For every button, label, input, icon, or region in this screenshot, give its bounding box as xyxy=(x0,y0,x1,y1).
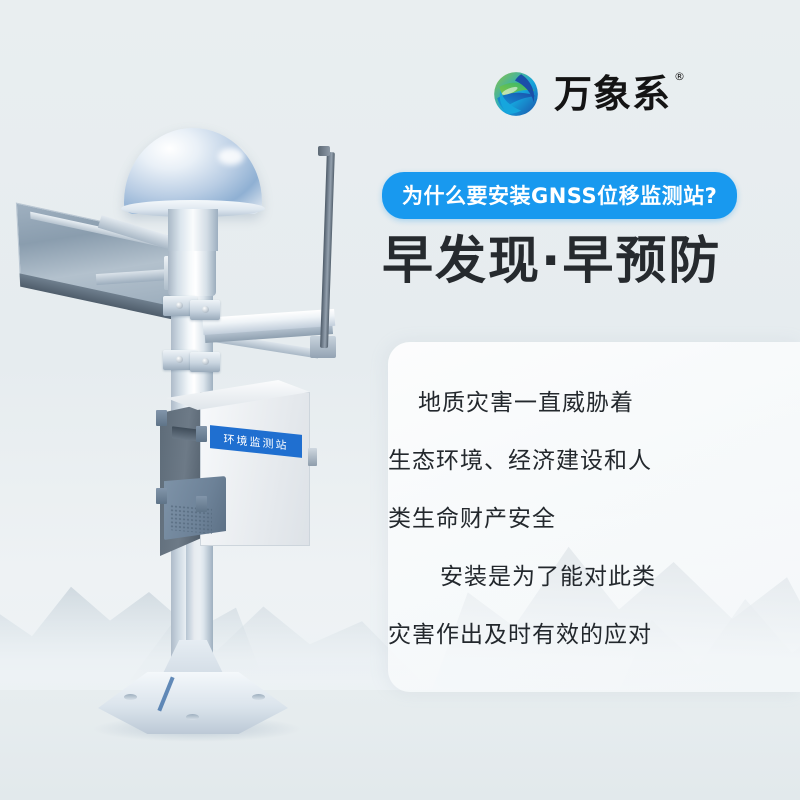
description-line-4: 安装是为了能对此类 xyxy=(388,548,788,606)
description-line-5: 灾害作出及时有效的应对 xyxy=(388,606,788,664)
enclosure-mount-tab xyxy=(156,410,167,426)
question-banner-text: 为什么要安装GNSS位移监测站? xyxy=(402,184,717,208)
gnss-monitoring-station-image: 环境监测站 xyxy=(0,0,400,800)
description-line-2: 生态环境、经济建设和人 xyxy=(388,432,788,490)
clamp-bolt xyxy=(176,356,183,363)
equipment-enclosure: 环境监测站 xyxy=(158,378,326,558)
brand-logo: 万象系 ® xyxy=(490,68,671,120)
base-bolt-hole xyxy=(252,694,265,700)
content-column: 万象系 ® 为什么要安装GNSS位移监测站? 早发现·早预防 地质灾害一直威胁着… xyxy=(380,0,800,800)
enclosure-hinge-tab xyxy=(196,496,207,512)
description-text: 地质灾害一直威胁着 生态环境、经济建设和人 类生命财产安全 安装是为了能对此类 … xyxy=(388,374,788,664)
base-bolt-hole xyxy=(124,694,137,700)
clamp-bolt xyxy=(202,306,209,313)
base-bolt-hole xyxy=(186,714,199,720)
clamp-bolt xyxy=(176,302,183,309)
whip-antenna-cap xyxy=(318,146,330,156)
enclosure-label-text: 环境监测站 xyxy=(224,430,289,453)
enclosure-mount-tab xyxy=(156,488,167,504)
dome-neck xyxy=(168,209,218,251)
brand-name: 万象系 xyxy=(554,72,671,116)
description-line-3: 类生命财产安全 xyxy=(388,490,788,548)
clamp-bolt xyxy=(202,358,209,365)
dome-highlight xyxy=(218,148,244,165)
globe-swirl-logo-icon xyxy=(490,68,542,120)
enclosure-latch xyxy=(308,448,317,466)
enclosure-hinge-tab xyxy=(196,426,207,442)
registered-trademark-icon: ® xyxy=(674,71,686,82)
poster-root: 环境监测站 xyxy=(0,0,800,800)
question-banner: 为什么要安装GNSS位移监测站? xyxy=(382,172,737,219)
description-line-1: 地质灾害一直威胁着 xyxy=(388,374,788,432)
page-title: 早发现·早预防 xyxy=(382,234,721,290)
brand-name-wrap: 万象系 ® xyxy=(554,75,671,113)
